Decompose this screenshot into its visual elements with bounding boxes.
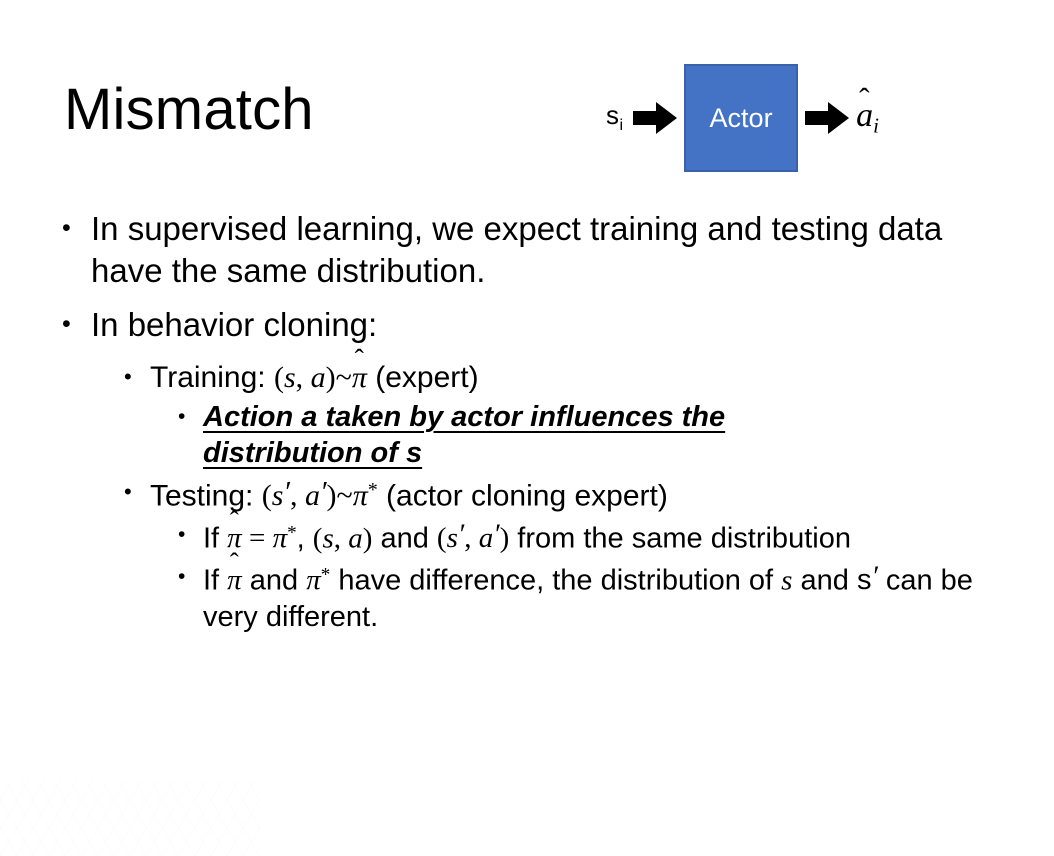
condition-trailer: from the same distribution [509,522,851,554]
asterisk-superscript: * [321,565,331,586]
pi-symbol: π [306,564,321,596]
condition-lead: If [203,522,227,554]
background-watermark [0,780,260,856]
bullet-marker: • [178,517,185,553]
bullet-item-different-distribution: • If ˆπ and π* have difference, the dist… [178,559,1022,636]
testing-trailer: (actor cloning expert) [378,479,668,512]
bullet-item-testing: • Testing: (s′, a′)~π* (actor cloning ex… [124,474,1022,515]
asterisk-superscript: * [368,479,378,501]
bullet-marker: • [178,559,185,595]
diagram-input-label: si [606,102,623,133]
math-expression: (s′, a′) [437,522,509,554]
bullet-marker: • [124,474,132,511]
condition-mid-3: and [792,564,857,596]
bullet-text: If ˆπ = π*, (s, a) and (s′, a′) from the… [178,517,1022,557]
right-arrow-icon [633,101,677,135]
page-title: Mismatch [64,80,314,141]
diagram-input-symbol: s [606,100,619,130]
condition-mid-2: and [372,522,437,554]
bullet-text: Training: (s, a)~ˆπ (expert) [124,359,1022,397]
math-symbol-s: s [781,564,792,596]
training-label: Training: [150,361,274,394]
bullet-marker: • [62,208,71,249]
bullet-item-emphasis: • Action a taken by actor influences the… [178,399,1022,472]
bullet-item: • In supervised learning, we expect trai… [62,208,1022,291]
emphasis-line-2: distribution of s [203,437,422,469]
circumflex-accent-icon: ˆ [355,345,364,373]
testing-label: Testing: [150,479,262,512]
bullet-text: If ˆπ and π* have difference, the distri… [178,559,1022,636]
math-expression: ˆπ [227,564,242,596]
body-content: • In supervised learning, we expect trai… [62,208,1022,638]
diagram-output-label: ˆai [856,99,879,136]
bullet-item: • In behavior cloning: [62,304,1022,346]
math-expression: (s′, a′)~π* [262,479,378,512]
condition-mid-1: , [297,522,313,554]
condition-mid-2: have difference, the distribution of [330,564,781,596]
training-trailer: (expert) [367,361,479,394]
condition-lead: If [203,564,227,596]
bullet-marker: • [124,359,132,396]
bullet-text: Action a taken by actor influences thedi… [178,399,1022,472]
emphasis-line-1: Action a taken by actor influences the [203,401,725,433]
pi-symbol: π [273,522,288,554]
right-arrow-icon [805,101,849,135]
asterisk-superscript: * [287,523,297,544]
actor-box-label: Actor [710,103,773,134]
math-expression: π* [306,564,330,596]
circumflex-accent-icon: ˆ [230,507,239,534]
bullet-text: In supervised learning, we expect traini… [62,208,1022,291]
bullet-text: Testing: (s′, a′)~π* (actor cloning expe… [124,474,1022,515]
bullet-text: In behavior cloning: [62,304,1022,346]
actor-box: Actor [684,64,798,172]
circumflex-accent-icon: ˆ [859,84,869,115]
equals-symbol: = [249,522,265,554]
bullet-item-same-distribution: • If ˆπ = π*, (s, a) and (s′, a′) from t… [178,517,1022,557]
bullet-marker: • [178,399,185,435]
actor-diagram: si Actor ˆai [606,60,936,176]
bullet-marker: • [62,304,71,345]
condition-mid-1: and [242,564,307,596]
diagram-input-subscript: i [620,117,624,134]
diagram-output-symbol-hatted: ˆa [856,99,873,133]
math-expression: (s, a)~ˆπ [274,361,367,394]
slide-canvas: Mismatch si Actor ˆai • In supervised le… [0,0,1054,856]
circumflex-accent-icon: ˆ [230,549,239,576]
pi-symbol: π [353,479,368,512]
math-expression: (s, a) [313,522,373,554]
bullet-item-training: • Training: (s, a)~ˆπ (expert) [124,359,1022,397]
diagram-output-subscript: i [873,114,879,138]
math-symbol-s-prime: s′ [857,564,878,596]
